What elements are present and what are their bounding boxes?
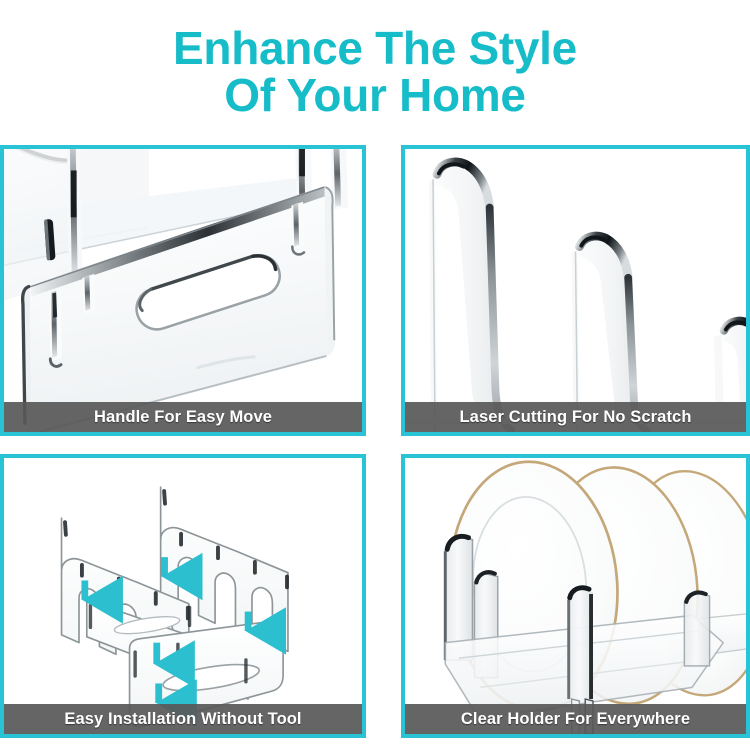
panel-cell-laser-cutting: Laser Cutting For No Scratch bbox=[378, 140, 750, 436]
panel-cell-installation: Easy Installation Without Tool bbox=[0, 436, 378, 750]
page-title: Enhance The Style Of Your Home bbox=[173, 25, 577, 119]
caption-text: Laser Cutting For No Scratch bbox=[460, 408, 692, 427]
panel-caption-clear-holder: Clear Holder For Everywhere bbox=[405, 704, 746, 734]
caption-text: Easy Installation Without Tool bbox=[64, 710, 301, 729]
feature-panel-laser-cutting[interactable]: Laser Cutting For No Scratch bbox=[401, 145, 750, 436]
feature-panel-grid: Handle For Easy Move bbox=[0, 140, 750, 750]
panel-caption-installation: Easy Installation Without Tool bbox=[4, 704, 362, 734]
panel-caption-laser-cutting: Laser Cutting For No Scratch bbox=[405, 402, 746, 432]
page-title-line-1: Enhance The Style bbox=[173, 22, 577, 74]
feature-panel-handle[interactable]: Handle For Easy Move bbox=[0, 145, 366, 436]
panel-caption-handle: Handle For Easy Move bbox=[4, 402, 362, 432]
rack-with-plates-icon bbox=[405, 458, 746, 734]
caption-text: Handle For Easy Move bbox=[94, 408, 272, 427]
feature-panel-clear-holder[interactable]: Clear Holder For Everywhere bbox=[401, 454, 750, 738]
panel-cell-handle: Handle For Easy Move bbox=[0, 140, 378, 436]
header-banner: Enhance The Style Of Your Home bbox=[0, 0, 750, 140]
page-title-line-2: Of Your Home bbox=[173, 72, 577, 119]
acrylic-handle-rail-icon bbox=[4, 149, 362, 432]
assembly-diagram-icon bbox=[4, 458, 362, 734]
panel-cell-clear-holder: Clear Holder For Everywhere bbox=[378, 436, 750, 750]
feature-panel-installation[interactable]: Easy Installation Without Tool bbox=[0, 454, 366, 738]
caption-text: Clear Holder For Everywhere bbox=[461, 710, 690, 729]
acrylic-fins-icon bbox=[405, 149, 746, 432]
